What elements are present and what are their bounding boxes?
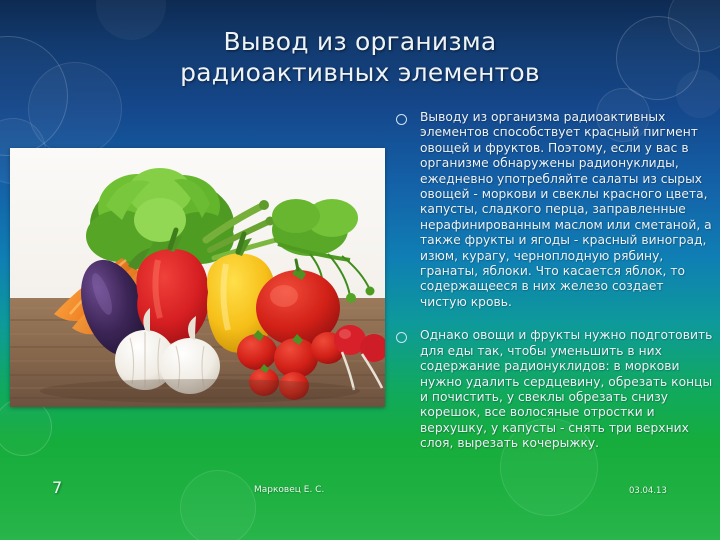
slide-body: Выводу из организма радиоактивных элемен… (396, 110, 714, 470)
bubble-icon (180, 470, 256, 540)
hollow-circle-bullet-icon (396, 114, 407, 125)
bubble-icon (668, 0, 720, 52)
vegetables-photo (10, 148, 385, 407)
presentation-slide: Вывод из организма радиоактивных элемент… (0, 0, 720, 540)
author-name: Марковец Е. С. (254, 485, 324, 495)
slide-date: 03.04.13 (629, 486, 667, 496)
bullet-item: Выводу из организма радиоактивных элемен… (396, 110, 714, 310)
hollow-circle-bullet-icon (396, 332, 407, 343)
page-number: 7 (52, 478, 62, 497)
bullet-text: Выводу из организма радиоактивных элемен… (420, 110, 714, 310)
bullet-item: Однако овощи и фрукты нужно подготовить … (396, 328, 714, 451)
bullet-text: Однако овощи и фрукты нужно подготовить … (420, 328, 714, 451)
slide-title: Вывод из организма радиоактивных элемент… (60, 26, 660, 88)
vegetables-illustration (10, 148, 385, 407)
bubble-icon (0, 36, 68, 156)
